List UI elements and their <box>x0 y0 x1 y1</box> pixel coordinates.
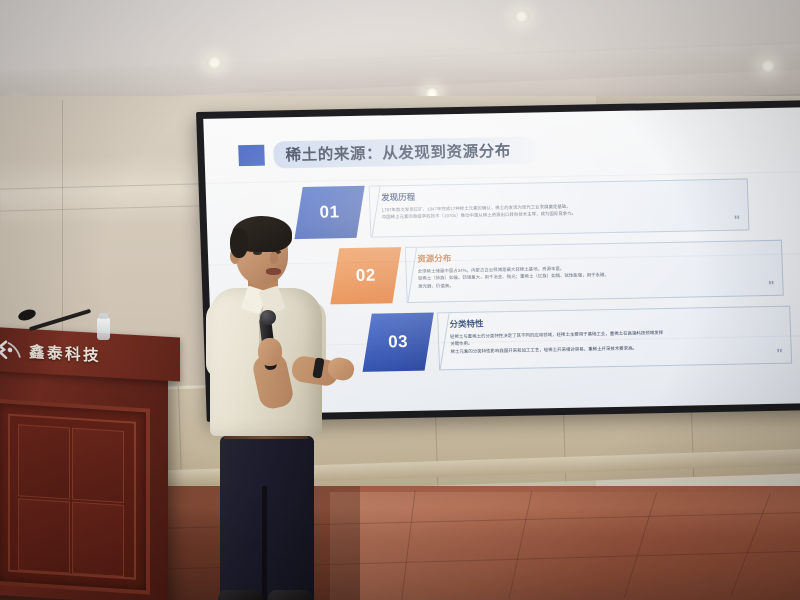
title-pill: 稀土的来源：从发现到资源分布 <box>273 136 537 168</box>
quote-mark-icon: " <box>768 278 774 293</box>
podium-panel-quadrant <box>18 498 70 573</box>
presenter-nose <box>270 252 278 264</box>
presenter-shoe-left <box>218 590 264 600</box>
presenter-sideburn <box>230 228 248 258</box>
water-bottle-cap <box>99 313 108 319</box>
item-number-02: 02 <box>356 266 377 286</box>
slide-title-row: 稀土的来源：从发现到资源分布 <box>238 136 537 169</box>
slide-item-01: 01 发现历程 1787年首次发现钇矿，1947年完成17种稀土元素的确认，稀土… <box>298 178 750 239</box>
trouser-leg-gap <box>262 486 267 600</box>
water-bottle <box>97 318 110 340</box>
podium-body <box>0 362 168 600</box>
presenter-shoe-right <box>268 590 314 600</box>
podium-panel-quadrant <box>18 424 70 499</box>
podium-front-panel <box>0 399 150 595</box>
page-title: 稀土的来源：从发现到资源分布 <box>285 143 511 164</box>
item-card-01: 发现历程 1787年首次发现钇矿，1947年完成17种稀土元素的确认，稀土的发现… <box>369 178 750 237</box>
quote-mark-icon: " <box>776 346 782 361</box>
ceiling-downlight <box>513 10 530 23</box>
floor-reflection <box>330 492 800 600</box>
conference-room-scene: 稀土的来源：从发现到资源分布 01 发现历程 1787年首次发现钇矿，1947年… <box>0 0 800 600</box>
ceiling-downlight <box>206 56 223 69</box>
item-card-02: 资源分布 全球稀土储量中国占34%，内蒙古白云鄂博是最大轻稀土基地，资源丰富。 … <box>405 240 784 303</box>
ceiling-downlight <box>760 60 776 72</box>
podium-panel-quadrant <box>72 428 124 503</box>
podium-panel-quadrant <box>72 502 124 577</box>
title-accent-square <box>238 145 265 166</box>
presenter <box>196 218 346 600</box>
podium-brand-text: 鑫泰科技 <box>29 340 101 366</box>
xintai-logo-icon <box>0 336 24 364</box>
presenter-hand-left <box>258 338 282 366</box>
presenter-mouth <box>266 268 281 275</box>
quote-mark-icon: " <box>734 213 740 228</box>
slide-item-02: 02 资源分布 全球稀土储量中国占34%，内蒙古白云鄂博是最大轻稀土基地，资源丰… <box>334 240 784 305</box>
presenter-trousers <box>220 436 314 600</box>
